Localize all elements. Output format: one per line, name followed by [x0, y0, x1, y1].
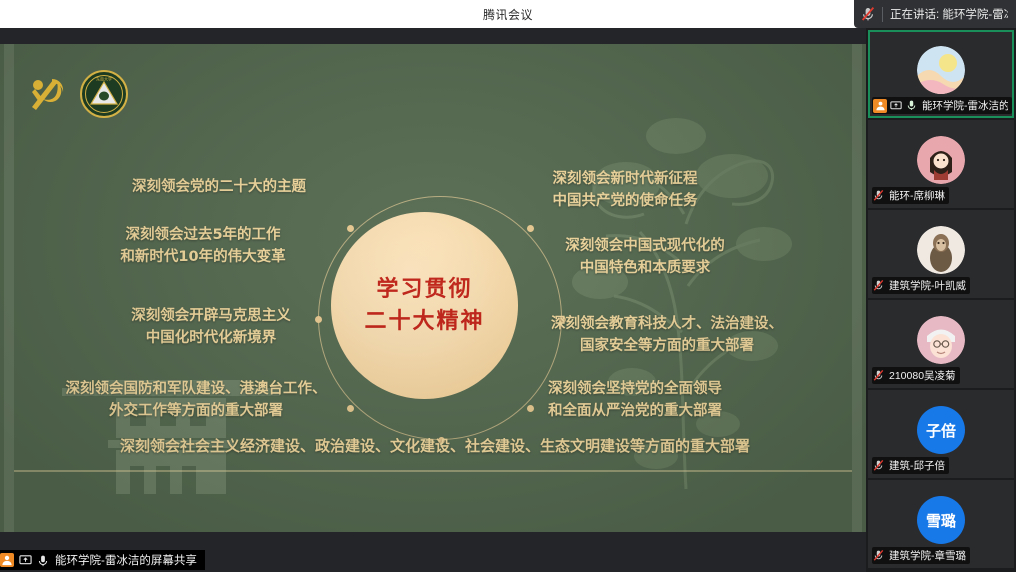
participant-name: 能环-席柳琳: [889, 188, 945, 203]
participant-tile[interactable]: 子倍 建筑-邱子倍: [868, 390, 1014, 478]
avatar: 雪璐: [917, 496, 965, 544]
emblem-group: 东南大学: [22, 70, 128, 118]
mic-muted-icon: [873, 279, 886, 292]
mic-icon: [37, 554, 50, 567]
slide-label-right-3: 深刻领会教育科技人才、法治建设、 国家安全等方面的重大部署: [512, 314, 822, 358]
slide-label-left-3: 深刻领会开辟马克思主义 中国化时代化新境界: [96, 306, 326, 350]
mic-muted-icon: [873, 549, 886, 562]
slide-border-left: [4, 44, 14, 532]
slide-label-right-1: 深刻领会新时代新征程 中国共产党的使命任务: [500, 169, 750, 213]
participant-tile[interactable]: 能环-席柳琳: [868, 120, 1014, 208]
tiananmen-building-decoration-icon: [56, 354, 286, 504]
nameplate: 能环学院-雷冰洁的: [872, 97, 1012, 114]
center-circle: 学习贯彻 二十大精神: [331, 212, 518, 399]
mic-muted-icon: [873, 189, 886, 202]
speaking-label: 正在讲话: 能环学院-雷冰洁: [890, 6, 1008, 22]
avatar: [917, 46, 965, 94]
participant-name: 建筑学院-叶凯威: [889, 278, 966, 293]
center-title-line2: 二十大精神: [364, 306, 484, 338]
participant-name: 210080吴凌菊: [889, 368, 956, 383]
avatar: [917, 226, 965, 274]
slide-label-left-1: 深刻领会党的二十大的主题: [104, 177, 334, 199]
avatar: [917, 136, 965, 184]
host-badge-icon: [873, 99, 887, 113]
nameplate: 建筑学院-章雪璐: [872, 547, 970, 564]
orbit-dot: [527, 225, 534, 232]
divider: [882, 7, 883, 22]
meeting-window: 腾讯会议 正在讲话: 能环学院-雷冰洁: [0, 0, 1016, 572]
host-badge-icon: [0, 553, 14, 567]
nameplate: 210080吴凌菊: [872, 367, 960, 384]
avatar: [917, 316, 965, 364]
participant-tile[interactable]: 雪璐 建筑学院-章雪璐: [868, 480, 1014, 568]
share-status-bar: 能环学院-雷冰洁的屏幕共享: [0, 548, 866, 572]
slide-border-right: [852, 44, 862, 532]
slide-label-left-2: 深刻领会过去5年的工作 和新时代10年的伟大变革: [88, 225, 318, 269]
participant-tile[interactable]: 210080吴凌菊: [868, 300, 1014, 388]
share-owner-label: 能环学院-雷冰洁的屏幕共享: [55, 552, 197, 568]
shared-screen-stage[interactable]: 东南大学 学习贯彻 二十大精神 深刻领会党的二十大的主题 深刻领会过去5年的工作: [0, 28, 866, 548]
svg-text:东南大学: 东南大学: [96, 76, 112, 82]
window-title: 腾讯会议: [483, 6, 533, 23]
orbit-dot: [347, 405, 354, 412]
avatar-initials: 子倍: [926, 420, 956, 441]
southeast-university-logo-icon: 东南大学: [80, 70, 128, 118]
ground-line-decoration: [14, 470, 852, 472]
nameplate: 建筑-邱子倍: [872, 457, 949, 474]
speaking-indicator[interactable]: 正在讲话: 能环学院-雷冰洁: [854, 0, 1016, 28]
orbit-dot: [347, 225, 354, 232]
avatar: 子倍: [917, 406, 965, 454]
slide-label-right-2: 深刻领会中国式现代化的 中国特色和本质要求: [520, 236, 770, 280]
mic-muted-icon: [873, 459, 886, 472]
center-title-line1: 学习贯彻: [376, 274, 472, 306]
screen-share-icon: [890, 99, 903, 112]
participant-name: 能环学院-雷冰洁的: [922, 98, 1008, 113]
slide-label-bottom: 深刻领会社会主义经济建设、政治建设、文化建设、社会建设、生态文明建设等方面的重大…: [40, 435, 830, 458]
nameplate: 能环-席柳琳: [872, 187, 949, 204]
participant-name: 建筑-邱子倍: [889, 458, 945, 473]
share-owner-chip: 能环学院-雷冰洁的屏幕共享: [0, 550, 205, 570]
participant-tile[interactable]: 能环学院-雷冰洁的: [868, 30, 1014, 118]
mic-muted-icon: [861, 6, 875, 22]
participant-rail[interactable]: 能环学院-雷冰洁的: [866, 28, 1016, 572]
party-emblem-icon: [22, 71, 68, 117]
slide-label-left-4: 深刻领会国防和军队建设、港澳台工作、 外交工作等方面的重大部署: [46, 379, 346, 423]
mic-muted-icon: [873, 369, 886, 382]
avatar-initials: 雪璐: [926, 510, 956, 531]
nameplate: 建筑学院-叶凯威: [872, 277, 970, 294]
mic-icon: [906, 99, 919, 112]
slide-label-right-4: 深刻领会坚持党的全面领导 和全面从严治党的重大部署: [490, 379, 780, 423]
presentation-slide: 东南大学 学习贯彻 二十大精神 深刻领会党的二十大的主题 深刻领会过去5年的工作: [0, 44, 866, 532]
screen-share-icon: [19, 554, 32, 567]
participant-tile[interactable]: 建筑学院-叶凯威: [868, 210, 1014, 298]
participant-name: 建筑学院-章雪璐: [889, 548, 966, 563]
